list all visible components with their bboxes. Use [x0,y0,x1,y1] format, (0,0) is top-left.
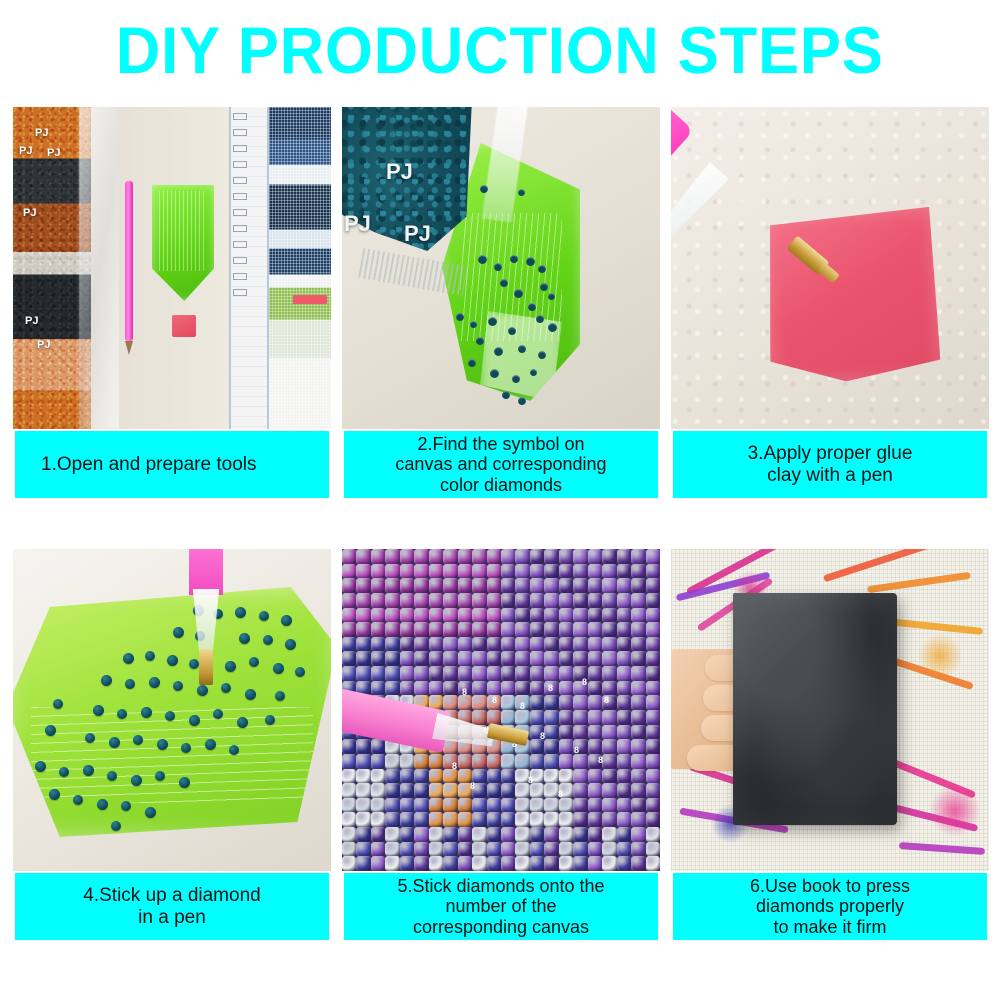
step-card-6[interactable]: 6.Use book to press diamonds properly to… [671,549,989,940]
canvas-symbol: 8 [492,695,497,705]
glue-clay [172,315,196,337]
bag-label-pj: PJ [47,147,60,159]
step-5-photo: 8 8 8 8 8 8 8 8 8 8 8 8 8 8 8 [342,549,660,871]
step-3-caption: 3.Apply proper glue clay with a pen [673,431,987,498]
canvas-symbol: 8 [582,677,587,687]
glue-clay [763,207,942,386]
canvas-symbol: 8 [462,687,467,697]
bag-label-pj: PJ [37,339,50,351]
step-1-caption-text: 1.Open and prepare tools [41,454,257,475]
page-title: DIY PRODUCTION STEPS [116,17,884,83]
step-1-caption: 1.Open and prepare tools [15,431,329,498]
page-title-bar: DIY PRODUCTION STEPS [0,0,1000,100]
canvas-symbol: 8 [604,695,609,705]
step-5-caption: 5.Stick diamonds onto the number of the … [344,873,658,940]
step-6-caption: 6.Use book to press diamonds properly to… [673,873,987,940]
black-book [733,593,897,825]
step-4-caption-text: 4.Stick up a diamond in a pen [83,885,260,928]
step-1-photo: PJ PJ PJ PJ PJ PJ [13,107,331,429]
canvas-symbol: 8 [558,789,563,799]
step-card-2[interactable]: PJ PJ PJ [342,107,660,498]
pink-pen [189,549,223,595]
tray-grooves [159,191,207,271]
bag-label-pj: PJ [23,207,36,219]
green-tray [152,185,214,301]
step-6-caption-text: 6.Use book to press diamonds properly to… [750,876,910,936]
printed-canvas [269,107,331,429]
step-2-photo: PJ PJ PJ [342,107,660,429]
bag-label-pj: PJ [25,315,38,327]
canvas-red-tag [293,295,327,304]
step-6-photo [671,549,989,871]
bag-label-pj: PJ [386,159,413,185]
canvas-symbol: 8 [452,761,457,771]
step-card-3[interactable]: 3.Apply proper glue clay with a pen [671,107,989,498]
plastic-wrap [79,107,119,429]
steps-grid: PJ PJ PJ PJ PJ PJ 1.Open and prepare too… [13,107,987,952]
canvas-symbol: 8 [574,745,579,755]
bag-label-pj: PJ [404,221,431,247]
bag-label-pj: PJ [19,145,32,157]
step-2-caption: 2.Find the symbol on canvas and correspo… [344,431,658,498]
step-5-caption-text: 5.Stick diamonds onto the number of the … [397,876,604,936]
bag-label-pj: PJ [35,127,48,139]
step-3-caption-text: 3.Apply proper glue clay with a pen [748,443,913,486]
step-4-caption: 4.Stick up a diamond in a pen [15,873,329,940]
step-card-5[interactable]: 8 8 8 8 8 8 8 8 8 8 8 8 8 8 8 5.Stick di… [342,549,660,940]
step-4-photo [13,549,331,871]
step-2-caption-text: 2.Find the symbol on canvas and correspo… [395,434,606,494]
gold-tip [199,649,213,685]
canvas-symbol: 8 [540,731,545,741]
color-chart [229,107,269,429]
canvas-symbol: 8 [470,781,475,791]
canvas-symbol: 8 [548,683,553,693]
step-card-4[interactable]: 4.Stick up a diamond in a pen [13,549,331,940]
bag-label-pj: PJ [344,211,371,237]
pink-pen [125,181,133,341]
canvas-symbol: 8 [520,701,525,711]
canvas-symbol: 8 [598,755,603,765]
step-3-photo [671,107,989,429]
step-card-1[interactable]: PJ PJ PJ PJ PJ PJ 1.Open and prepare too… [13,107,331,498]
canvas-symbol: 8 [528,775,533,785]
